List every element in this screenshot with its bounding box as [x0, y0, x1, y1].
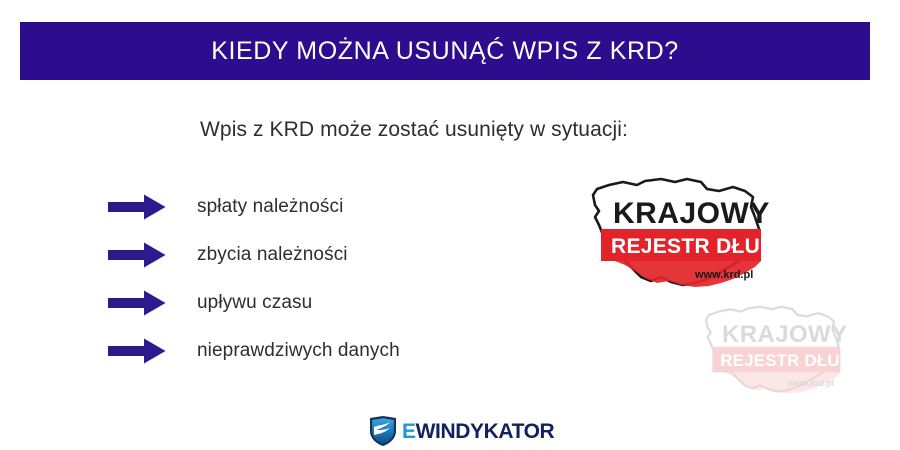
title-banner: KIEDY MOŻNA USUNĄĆ WPIS Z KRD? — [20, 22, 870, 80]
krd-line2: REJESTR DŁUGÓW — [611, 234, 773, 258]
shield-icon — [368, 415, 398, 447]
list-item: spłaty należności — [108, 183, 528, 231]
krd-wm-url: www.krd.pl — [787, 378, 835, 388]
brand-wordmark: EWINDYKATOR — [402, 421, 554, 442]
krd-logo-watermark: KRAJOWY REJESTR DŁUGÓW www.krd.pl — [694, 302, 854, 394]
reasons-list: spłaty należności zbycia należności upły… — [108, 183, 528, 375]
brand-suffix: WINDYKATOR — [416, 420, 555, 443]
list-item-label: upływu czasu — [197, 292, 312, 314]
arrow-right-icon — [108, 290, 166, 316]
krd-url: www.krd.pl — [694, 269, 753, 281]
brand-prefix: E — [402, 420, 416, 443]
poland-map-icon: KRAJOWY REJESTR DŁUGÓW www.krd.pl — [583, 173, 773, 288]
ewindykator-logo: EWINDYKATOR — [368, 414, 533, 448]
list-item-label: zbycia należności — [197, 244, 348, 266]
arrow-right-icon — [108, 338, 166, 364]
subtitle-text: Wpis z KRD może zostać usunięty w sytuac… — [200, 118, 628, 142]
krd-wm-line2: REJESTR DŁUGÓW — [720, 351, 854, 370]
krd-wm-line1: KRAJOWY — [722, 321, 847, 348]
krd-line1: KRAJOWY — [613, 197, 770, 230]
list-item-label: spłaty należności — [197, 196, 343, 218]
list-item: nieprawdziwych danych — [108, 327, 528, 375]
list-item: zbycia należności — [108, 231, 528, 279]
list-item: upływu czasu — [108, 279, 528, 327]
list-item-label: nieprawdziwych danych — [197, 340, 400, 362]
poland-map-icon: KRAJOWY REJESTR DŁUGÓW www.krd.pl — [694, 302, 854, 394]
page-title: KIEDY MOŻNA USUNĄĆ WPIS Z KRD? — [211, 37, 679, 66]
arrow-right-icon — [108, 242, 166, 268]
krd-logo: KRAJOWY REJESTR DŁUGÓW www.krd.pl — [583, 173, 773, 288]
arrow-right-icon — [108, 194, 166, 220]
slide-root: KIEDY MOŻNA USUNĄĆ WPIS Z KRD? Wpis z KR… — [0, 0, 900, 450]
